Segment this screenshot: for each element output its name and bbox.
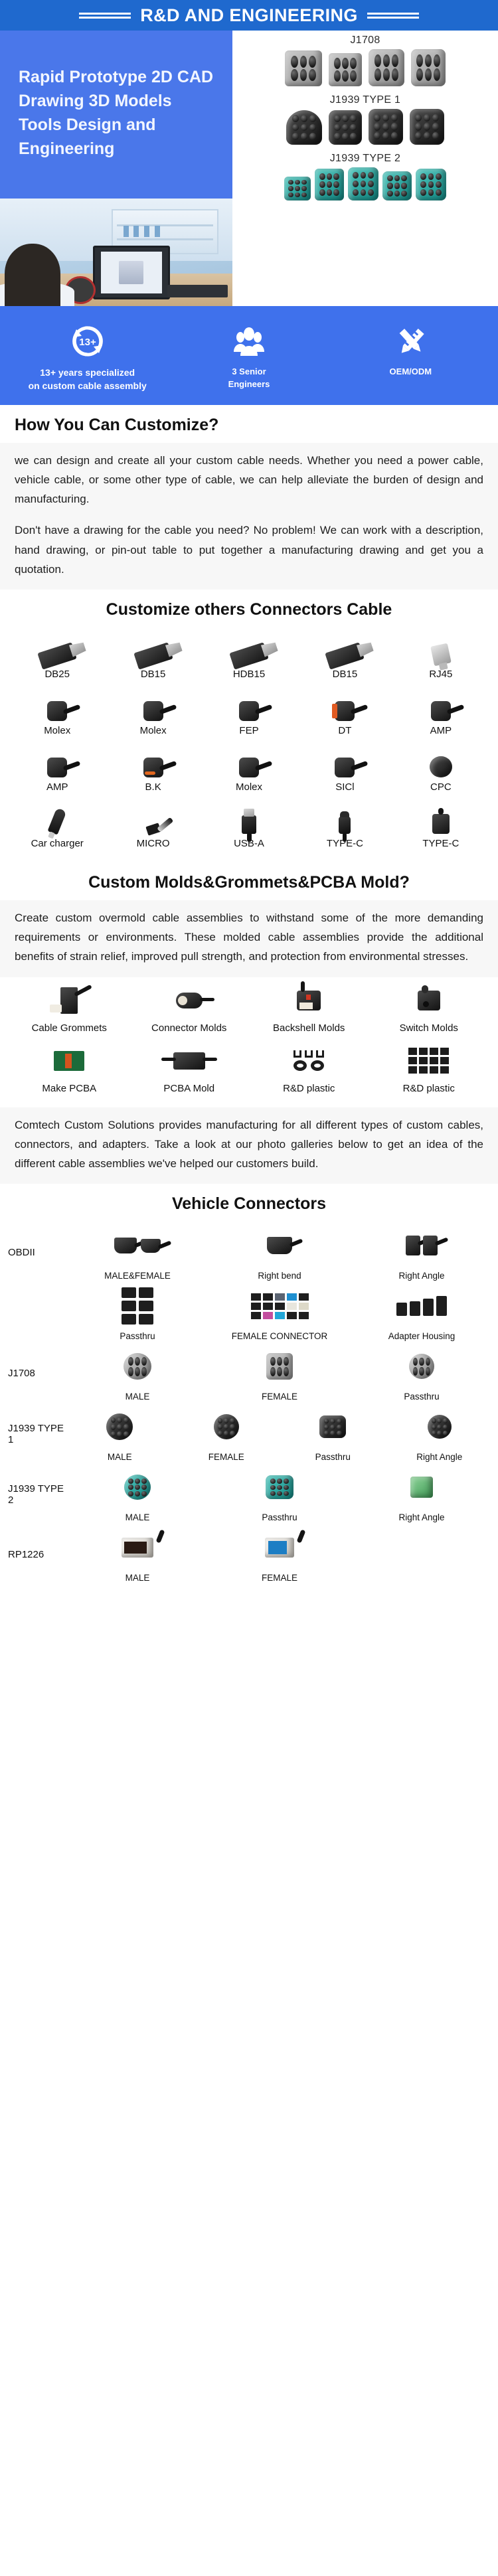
type-c-screw-icon [393, 799, 489, 837]
vehicle-cell[interactable]: MALE&FEMALE [66, 1224, 208, 1281]
connector-plug-icon [393, 686, 489, 724]
vehicle-row-obdii: OBDII MALE&FEMALE Right bend [0, 1222, 498, 1282]
gallery-item[interactable]: PCBA Mold [129, 1040, 250, 1101]
gallery-item[interactable]: Backshell Molds [249, 980, 369, 1040]
connector-mold-icon [129, 980, 250, 1021]
customize-heading: How You Can Customize? [0, 405, 498, 443]
gallery-item[interactable]: Make PCBA [9, 1040, 129, 1101]
female-connector-set-icon [208, 1285, 351, 1327]
connector-image [411, 49, 446, 86]
vehicle-row-label: J1708 [5, 1368, 66, 1379]
hero-group-label: J1708 [232, 35, 498, 46]
hero-group-images [232, 167, 498, 204]
hero-office-photo [0, 199, 232, 306]
gallery-item[interactable]: USB-A [201, 799, 297, 856]
vehicle-cell-label: Passthru [208, 1508, 351, 1522]
recycle-13plus-icon: 13+ [7, 321, 168, 362]
connector-plug-icon [393, 743, 489, 780]
gallery-item-label: Switch Molds [369, 1021, 489, 1040]
j1939t1-right-angle-icon [386, 1406, 493, 1448]
pencil-ruler-icon [330, 321, 491, 362]
vehicle-cell[interactable]: FEMALE [208, 1526, 351, 1583]
hero-group-images [232, 49, 498, 90]
vehicle-row-j1939-type-2: J1939 TYPE 2 MALE [0, 1463, 498, 1524]
gallery-item-label: AMP [393, 724, 489, 743]
vehicle-cell[interactable]: FEMALE [208, 1345, 351, 1402]
hero-copy-panel: Rapid Prototype 2D CAD Drawing 3D Models… [0, 31, 232, 199]
gallery-item-label: Connector Molds [129, 1021, 250, 1040]
connector-bk-plug-icon [105, 743, 201, 780]
connector-image [348, 167, 378, 201]
plastic-clips-icon [249, 1040, 369, 1082]
feature-senior-engineers: 3 Senior Engineers [168, 321, 329, 393]
vehicle-cell-label: MALE&FEMALE [66, 1267, 208, 1281]
gallery-item-label: B.K [105, 780, 201, 799]
feature-label: 13+ years specialized on custom cable as… [7, 366, 168, 393]
pcba-mold-icon [129, 1040, 250, 1082]
vehicle-cell-label: FEMALE [173, 1448, 280, 1462]
vehicle-row-j1708: J1708 MALE F [0, 1342, 498, 1403]
connector-rj45-icon [393, 630, 489, 667]
j1708-passthru-icon [351, 1345, 493, 1388]
vehicle-row-label: J1939 TYPE 2 [5, 1483, 66, 1506]
hero-section: Rapid Prototype 2D CAD Drawing 3D Models… [0, 31, 498, 306]
gallery-item-label: Molex [201, 780, 297, 799]
gallery-item[interactable]: AMP [393, 686, 489, 743]
connectors-gallery: DB25 DB15 HDB15 DB15 RJ45 Molex [0, 627, 498, 862]
connector-image [286, 110, 322, 145]
paragraph: we can design and create all your custom… [15, 451, 483, 509]
vehicle-cell[interactable]: FEMALE CONNECTOR [208, 1285, 351, 1341]
plastic-parts-icon [369, 1040, 489, 1082]
gallery-row: AMP B.K Molex SICl CPC [9, 743, 489, 799]
connector-image [382, 171, 412, 201]
connector-dsub-icon [9, 630, 105, 667]
vehicle-cell[interactable]: Right bend [208, 1224, 351, 1281]
vehicle-cell-empty [351, 1526, 493, 1583]
hero-group-label: J1939 TYPE 1 [232, 94, 498, 106]
pcba-board-icon [9, 1040, 129, 1082]
vehicle-cell-label: MALE [66, 1388, 208, 1402]
car-charger-icon [9, 799, 105, 837]
vehicle-cell[interactable]: MALE [66, 1345, 208, 1402]
vehicle-cell[interactable]: MALE [66, 1406, 173, 1462]
section-features-strip: 13+ 13+ years specialized on custom cabl… [0, 306, 498, 405]
vehicle-cell-label: Right Angle [351, 1508, 493, 1522]
gallery-item[interactable]: MICRO [105, 799, 201, 856]
cable-grommet-icon [9, 980, 129, 1021]
paragraph: Create custom overmold cable assemblies … [15, 908, 483, 967]
obd-pair-icon [66, 1224, 208, 1267]
connector-image [329, 110, 362, 145]
vehicle-connectors-table: OBDII MALE&FEMALE Right bend [0, 1222, 498, 1597]
gallery-item[interactable]: R&D plastic [249, 1040, 369, 1101]
vehicle-cell-label: Passthru [351, 1388, 493, 1402]
vehicle-row-passthru-female-adapter: Passthru FEMALE CONNECTOR [0, 1282, 498, 1342]
gallery-item-label: CPC [393, 780, 489, 799]
gallery-row: DB25 DB15 HDB15 DB15 RJ45 [9, 630, 489, 686]
usb-a-icon [201, 799, 297, 837]
vehicle-row-label: OBDII [5, 1247, 66, 1258]
vehicle-cell-label: FEMALE CONNECTOR [208, 1327, 351, 1341]
connector-dsub-icon [297, 630, 392, 667]
customize-paragraphs: we can design and create all your custom… [0, 443, 498, 590]
j1939t1-passthru-icon [280, 1406, 386, 1448]
j1708-male-icon [66, 1345, 208, 1388]
vehicle-cell[interactable]: Passthru [208, 1466, 351, 1522]
gallery-item-label: TYPE-C [393, 837, 489, 856]
connector-image [284, 177, 311, 201]
feature-oem-odm: OEM/ODM [330, 321, 491, 393]
banner-rule-right [367, 13, 419, 19]
connector-image [285, 50, 322, 86]
gallery-item-label: DB25 [9, 667, 105, 686]
connector-image [416, 169, 446, 201]
j1939t2-male-icon [66, 1466, 208, 1508]
molds-closing-paragraph-block: Comtech Custom Solutions provides manufa… [0, 1107, 498, 1184]
hero-group-images [232, 109, 498, 149]
gallery-item-label: DB15 [105, 667, 201, 686]
gallery-item[interactable]: RJ45 [393, 630, 489, 686]
connector-plug-icon [201, 743, 297, 780]
paragraph: Comtech Custom Solutions provides manufa… [15, 1115, 483, 1174]
j1939t2-right-angle-icon [351, 1466, 493, 1508]
obd-right-angle-icon [351, 1224, 493, 1267]
feature-years-specialized: 13+ 13+ years specialized on custom cabl… [7, 321, 168, 393]
vehicle-cell[interactable]: FEMALE [173, 1406, 280, 1462]
gallery-item-label: FEP [201, 724, 297, 743]
connector-dsub-icon [105, 630, 201, 667]
gallery-item-label: R&D plastic [369, 1082, 489, 1101]
connector-image [410, 109, 444, 145]
vehicle-cell[interactable]: Right Angle [386, 1406, 493, 1462]
vehicle-cell-label: Passthru [66, 1327, 208, 1341]
gallery-item-label: Cable Grommets [9, 1021, 129, 1040]
section-banner-rd-engineering: R&D AND ENGINEERING [0, 0, 498, 31]
gallery-item-label: PCBA Mold [129, 1082, 250, 1101]
product-description-page: R&D AND ENGINEERING Rapid Prototype 2D C… [0, 0, 498, 1597]
gallery-item[interactable]: Molex [9, 686, 105, 743]
gallery-item-label: Backshell Molds [249, 1021, 369, 1040]
connector-image [369, 109, 403, 145]
gallery-row: Make PCBA PCBA Mold [9, 1040, 489, 1101]
switch-mold-icon [369, 980, 489, 1021]
gallery-item[interactable]: TYPE-C [393, 799, 489, 856]
rp1226-female-icon [208, 1526, 351, 1569]
vehicle-cell[interactable]: Right Angle [351, 1224, 493, 1281]
connector-image [315, 169, 344, 201]
connector-dt-plug-icon [297, 686, 392, 724]
hero-group-j1939-type-1: J1939 TYPE 1 [232, 90, 498, 149]
vehicle-cell-label: Adapter Housing [351, 1327, 493, 1341]
passthru-housings-icon [66, 1285, 208, 1327]
vehicle-row-label: RP1226 [5, 1549, 66, 1560]
vehicle-cell[interactable]: MALE [66, 1466, 208, 1522]
j1939t2-passthru-icon [208, 1466, 351, 1508]
obd-right-bend-icon [208, 1224, 351, 1267]
vehicle-cell[interactable]: MALE [66, 1526, 208, 1583]
gallery-item-label: SICl [297, 780, 392, 799]
gallery-row: Cable Grommets Connector Molds [9, 980, 489, 1040]
molds-heading: Custom Molds&Grommets&PCBA Mold? [0, 862, 498, 900]
feature-label: 3 Senior Engineers [168, 366, 329, 391]
hero-left-column: Rapid Prototype 2D CAD Drawing 3D Models… [0, 31, 232, 306]
vehicle-cell[interactable]: Passthru [280, 1406, 386, 1462]
connector-plug-icon [105, 686, 201, 724]
vehicle-cell-label: Right bend [208, 1267, 351, 1281]
gallery-item-label: Molex [105, 724, 201, 743]
vehicle-cell-label: Passthru [280, 1448, 386, 1462]
gallery-item[interactable]: Molex [201, 743, 297, 799]
connector-dsub-icon [201, 630, 297, 667]
connector-plug-icon [9, 686, 105, 724]
engineers-group-icon [168, 321, 329, 362]
rp1226-male-icon [66, 1526, 208, 1569]
gallery-item[interactable]: SICl [297, 743, 392, 799]
gallery-item[interactable]: CPC [393, 743, 489, 799]
micro-usb-icon [105, 799, 201, 837]
j1708-female-icon [208, 1345, 351, 1388]
hero-headline: Rapid Prototype 2D CAD Drawing 3D Models… [19, 65, 214, 161]
molds-gallery: Cable Grommets Connector Molds [0, 977, 498, 1107]
vehicle-cell[interactable]: Right Angle [351, 1466, 493, 1522]
gallery-item[interactable]: R&D plastic [369, 1040, 489, 1101]
hero-product-column: J1708 [232, 31, 498, 306]
connector-plug-icon [9, 743, 105, 780]
gallery-item[interactable]: DB15 [105, 630, 201, 686]
vehicle-cell-label: MALE [66, 1569, 208, 1583]
vehicle-row-label: J1939 TYPE 1 [5, 1423, 66, 1445]
connector-plug-icon [297, 743, 392, 780]
gallery-item-label: AMP [9, 780, 105, 799]
gallery-item[interactable]: AMP [9, 743, 105, 799]
connectors-gallery-heading: Customize others Connectors Cable [0, 590, 498, 627]
connector-plug-icon [201, 686, 297, 724]
connector-image [329, 53, 362, 86]
gallery-item-label: Molex [9, 724, 105, 743]
type-c-icon [297, 799, 392, 837]
gallery-item-label: HDB15 [201, 667, 297, 686]
hero-group-j1939-type-2: J1939 TYPE 2 [232, 149, 498, 204]
gallery-item-label: R&D plastic [249, 1082, 369, 1101]
adapter-housing-icon [351, 1285, 493, 1327]
banner-title: R&D AND ENGINEERING [140, 5, 358, 26]
vehicle-cell-label: FEMALE [208, 1388, 351, 1402]
connector-image [369, 49, 404, 86]
gallery-item-label: Make PCBA [9, 1082, 129, 1101]
j1939t1-female-icon [173, 1406, 280, 1448]
vehicle-connectors-heading: Vehicle Connectors [0, 1184, 498, 1222]
backshell-mold-icon [249, 980, 369, 1021]
gallery-item[interactable]: DT [297, 686, 392, 743]
j1939t1-male-icon [66, 1406, 173, 1448]
gallery-row: Car charger MICRO USB-A TYPE-C T [9, 799, 489, 856]
gallery-row: Molex Molex FEP DT AMP [9, 686, 489, 743]
gallery-item-label: DT [297, 724, 392, 743]
gallery-item-label: MICRO [105, 837, 201, 856]
vehicle-cell-label: MALE [66, 1508, 208, 1522]
hero-group-j1708: J1708 [232, 31, 498, 90]
gallery-item[interactable]: HDB15 [201, 630, 297, 686]
vehicle-cell-label: Right Angle [386, 1448, 493, 1462]
gallery-item[interactable]: B.K [105, 743, 201, 799]
paragraph: Don't have a drawing for the cable you n… [15, 521, 483, 579]
gallery-item[interactable]: Molex [105, 686, 201, 743]
vehicle-cell-label: Right Angle [351, 1267, 493, 1281]
vehicle-cell[interactable]: Passthru [66, 1285, 208, 1341]
gallery-item[interactable]: Car charger [9, 799, 105, 856]
molds-paragraph-block: Create custom overmold cable assemblies … [0, 900, 498, 977]
feature-label: OEM/ODM [330, 366, 491, 378]
svg-text:13+: 13+ [79, 337, 96, 348]
vehicle-cell-label: FEMALE [208, 1569, 351, 1583]
gallery-item-label: DB15 [297, 667, 392, 686]
vehicle-row-j1939-type-1: J1939 TYPE 1 MALE [0, 1403, 498, 1463]
vehicle-cell[interactable]: Passthru [351, 1345, 493, 1402]
gallery-item[interactable]: TYPE-C [297, 799, 392, 856]
vehicle-cell[interactable]: Adapter Housing [351, 1285, 493, 1341]
gallery-item[interactable]: DB15 [297, 630, 392, 686]
gallery-item[interactable]: Cable Grommets [9, 980, 129, 1040]
gallery-item[interactable]: Switch Molds [369, 980, 489, 1040]
gallery-item[interactable]: FEP [201, 686, 297, 743]
banner-rule-left [79, 13, 131, 19]
gallery-item[interactable]: Connector Molds [129, 980, 250, 1040]
hero-group-label: J1939 TYPE 2 [232, 153, 498, 165]
gallery-item[interactable]: DB25 [9, 630, 105, 686]
gallery-item-label: Car charger [9, 837, 105, 856]
vehicle-row-rp1226: RP1226 MALE [0, 1524, 498, 1597]
vehicle-cell-label: MALE [66, 1448, 173, 1462]
